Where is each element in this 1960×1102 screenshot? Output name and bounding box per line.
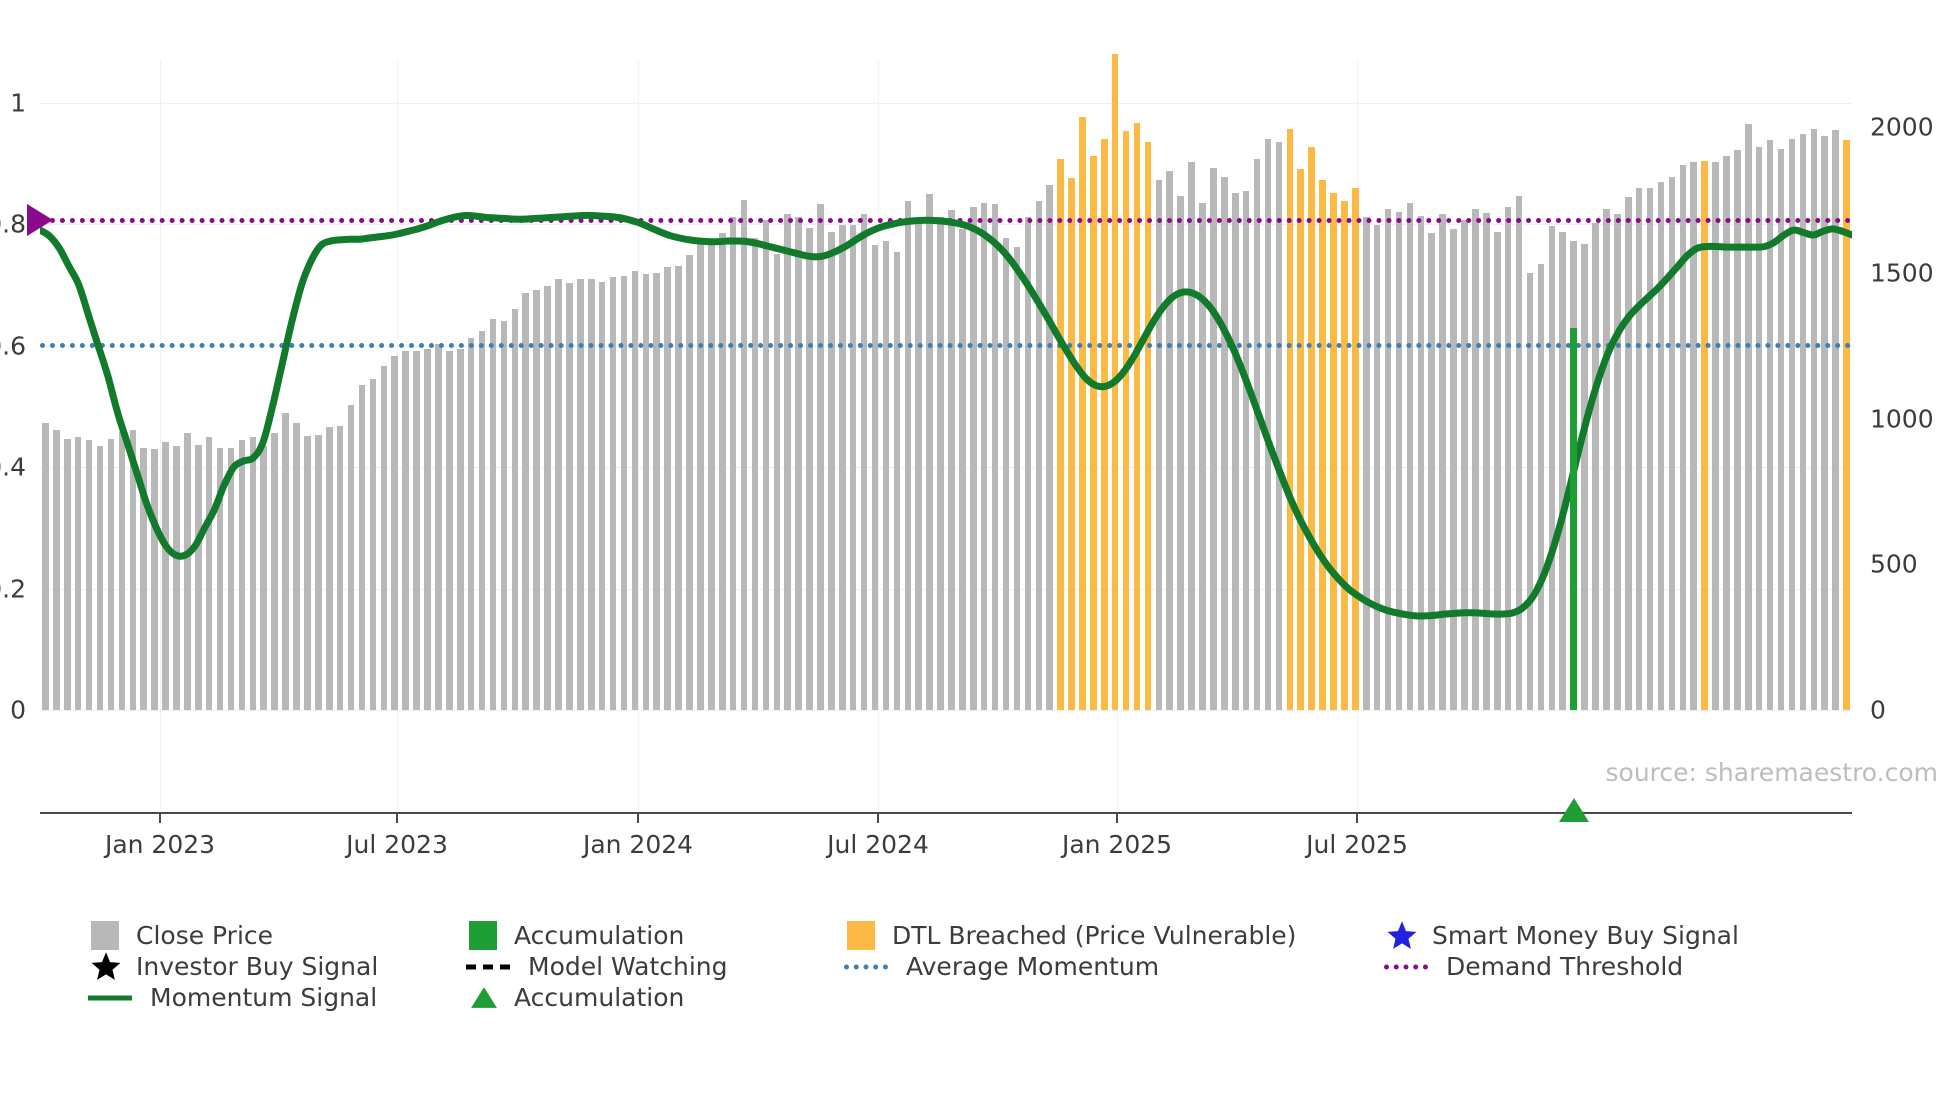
legend-accumulation-triangle[interactable]: Accumulation	[466, 982, 844, 1013]
x-axis-tick-label: Jul 2025	[1306, 830, 1408, 859]
line-icon	[88, 995, 132, 1000]
legend-accumulation-bar[interactable]: Accumulation	[466, 920, 844, 951]
chart-screenshot: 10.80.60.40.20 2000150010005000 Jan 2023…	[0, 0, 1960, 1102]
x-axis-tick-label: Jul 2024	[827, 830, 929, 859]
legend-label: DTL Breached (Price Vulnerable)	[892, 923, 1296, 948]
legend-line-icon	[88, 982, 136, 1013]
legend-label: Average Momentum	[906, 954, 1159, 979]
legend-label: Model Watching	[528, 954, 728, 979]
legend-dashed-line-icon	[466, 951, 514, 982]
triangle-icon	[466, 982, 502, 1013]
star-icon	[88, 951, 124, 982]
legend-square-icon	[466, 920, 500, 951]
legend-label: Accumulation	[514, 923, 684, 948]
legend-square-icon	[844, 920, 878, 951]
dotted-line-icon	[844, 964, 888, 969]
legend-average-momentum[interactable]: Average Momentum	[844, 951, 1384, 982]
x-axis-tick-label: Jan 2024	[583, 830, 693, 859]
x-axis-tick-label: Jan 2025	[1062, 830, 1172, 859]
y-axis-right-tick-label: 1500	[1870, 258, 1934, 287]
x-axis-tick-mark	[637, 812, 639, 823]
demand-threshold-start-diamond	[27, 204, 53, 236]
x-axis-tick-mark	[159, 812, 161, 823]
signal-markers	[40, 60, 1852, 710]
x-axis-tick-mark	[1356, 812, 1358, 823]
square-icon	[847, 921, 875, 950]
legend-label: Momentum Signal	[150, 985, 377, 1010]
x-axis-tick-label: Jul 2023	[346, 830, 448, 859]
y-axis-left-tick-label: 0	[10, 696, 26, 725]
accumulation-triangle-marker	[1559, 798, 1589, 822]
plot-area: 10.80.60.40.20 2000150010005000	[40, 60, 1852, 710]
y-axis-left-tick-label: 0.6	[0, 331, 26, 360]
square-icon	[469, 921, 497, 950]
y-axis-left-tick-label: 1	[10, 88, 26, 117]
y-axis-left-tick-label: 0.8	[0, 210, 26, 239]
accumulation-markers	[40, 710, 1852, 810]
y-axis-right-tick-label: 500	[1870, 550, 1918, 579]
legend-dotted-line-icon	[1384, 951, 1432, 982]
dotted-line-icon	[1384, 964, 1428, 969]
star-icon	[1384, 920, 1420, 951]
accumulation-bar	[1570, 328, 1577, 710]
legend-label: Accumulation	[514, 985, 684, 1010]
y-axis-right-tick-label: 0	[1870, 696, 1886, 725]
legend-model-watching[interactable]: Model Watching	[466, 951, 844, 982]
legend-label: Smart Money Buy Signal	[1432, 923, 1739, 948]
legend-star-icon	[88, 951, 122, 982]
legend-dtl-breached[interactable]: DTL Breached (Price Vulnerable)	[844, 920, 1384, 951]
x-axis-tick-mark	[877, 812, 879, 823]
x-axis-tick-mark	[1116, 812, 1118, 823]
y-axis-left-tick-label: 0.2	[0, 574, 26, 603]
legend-dotted-line-icon	[844, 951, 892, 982]
x-axis-tick-label: Jan 2023	[105, 830, 215, 859]
legend-investor-buy-signal[interactable]: Investor Buy Signal	[88, 951, 466, 982]
legend-label: Demand Threshold	[1446, 954, 1683, 979]
source-note: source: sharemaestro.com	[1606, 758, 1939, 787]
y-axis-left-tick-label: 0.4	[0, 453, 26, 482]
legend-square-icon	[88, 920, 122, 951]
legend-demand-threshold[interactable]: Demand Threshold	[1384, 951, 1804, 982]
legend-label: Close Price	[136, 923, 273, 948]
legend-star-icon	[1384, 920, 1418, 951]
y-axis-right-tick-label: 1000	[1870, 404, 1934, 433]
chart-legend: Close PriceAccumulationDTL Breached (Pri…	[88, 920, 1938, 1013]
legend-close-price[interactable]: Close Price	[88, 920, 466, 951]
square-icon	[91, 921, 119, 950]
legend-label: Investor Buy Signal	[136, 954, 378, 979]
legend-triangle-icon	[466, 982, 500, 1013]
y-axis-right-tick-label: 2000	[1870, 113, 1934, 142]
dashed-line-icon	[466, 964, 510, 969]
legend-smart-money-buy-signal[interactable]: Smart Money Buy Signal	[1384, 920, 1804, 951]
x-axis-tick-mark	[396, 812, 398, 823]
legend-momentum-signal[interactable]: Momentum Signal	[88, 982, 466, 1013]
